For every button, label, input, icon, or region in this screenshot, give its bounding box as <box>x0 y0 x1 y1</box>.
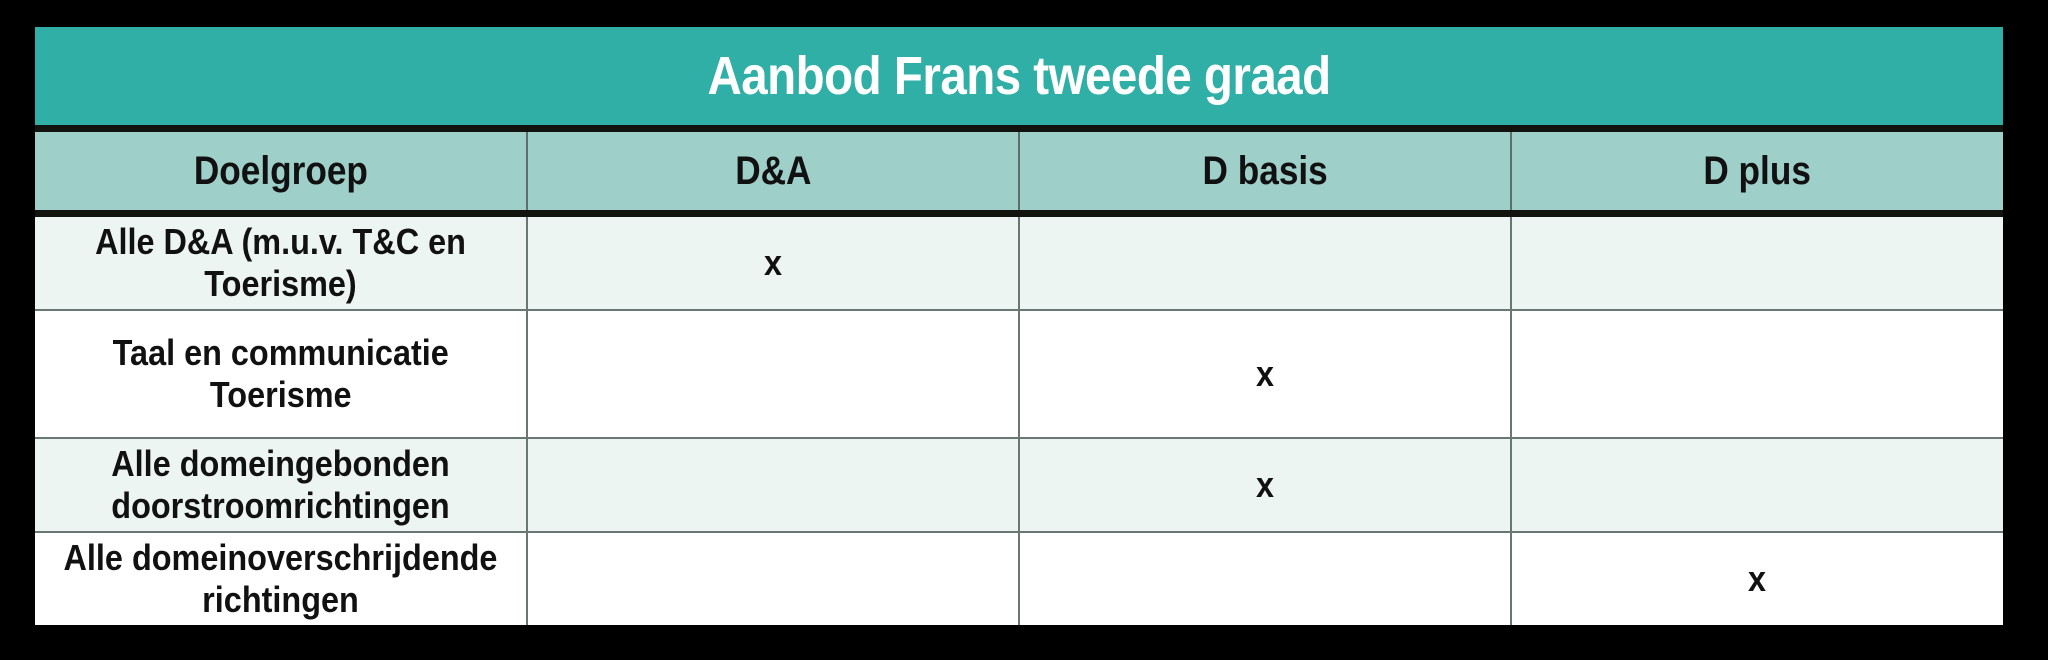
table-title-row: Aanbod Frans tweede graad <box>35 27 2003 129</box>
table-row: Taal en communicatie Toerisme x <box>35 310 2003 438</box>
offer-table-container: Aanbod Frans tweede graad Doelgroep D&A … <box>35 27 2003 625</box>
table-header-row: Doelgroep D&A D basis D plus <box>35 129 2003 214</box>
mark-x: x <box>1256 356 1274 392</box>
table-row: Alle domeinoverschrijdende richtingen x <box>35 532 2003 625</box>
page-title: Aanbod Frans tweede graad <box>707 49 1330 103</box>
cell-da <box>527 532 1019 625</box>
cell-dbasis: x <box>1019 438 1511 532</box>
column-header-doelgroep: Doelgroep <box>35 129 527 214</box>
column-header-dbasis: D basis <box>1019 129 1511 214</box>
cell-da <box>527 310 1019 438</box>
cell-dplus <box>1511 214 2003 311</box>
mark-x: x <box>1748 561 1766 597</box>
cell-dbasis: x <box>1019 310 1511 438</box>
cell-dplus: x <box>1511 532 2003 625</box>
row-label-cell: Alle domeingebonden doorstroomrichtingen <box>35 438 527 532</box>
row-label-cell: Alle domeinoverschrijdende richtingen <box>35 532 527 625</box>
table-title-cell: Aanbod Frans tweede graad <box>35 27 2003 129</box>
mark-x: x <box>1256 467 1274 503</box>
column-header-da: D&A <box>527 129 1019 214</box>
page-root: Aanbod Frans tweede graad Doelgroep D&A … <box>0 0 2048 660</box>
cell-da <box>527 438 1019 532</box>
cell-dbasis <box>1019 214 1511 311</box>
offer-table: Aanbod Frans tweede graad Doelgroep D&A … <box>35 27 2003 625</box>
cell-dplus <box>1511 310 2003 438</box>
table-body: Alle D&A (m.u.v. T&C en Toerisme) x Taal… <box>35 214 2003 626</box>
row-label-cell: Taal en communicatie Toerisme <box>35 310 527 438</box>
table-row: Alle D&A (m.u.v. T&C en Toerisme) x <box>35 214 2003 311</box>
mark-x: x <box>764 245 782 281</box>
table-row: Alle domeingebonden doorstroomrichtingen… <box>35 438 2003 532</box>
cell-dbasis <box>1019 532 1511 625</box>
cell-da: x <box>527 214 1019 311</box>
cell-dplus <box>1511 438 2003 532</box>
table-head: Aanbod Frans tweede graad Doelgroep D&A … <box>35 27 2003 214</box>
row-label-cell: Alle D&A (m.u.v. T&C en Toerisme) <box>35 214 527 311</box>
column-header-dplus: D plus <box>1511 129 2003 214</box>
